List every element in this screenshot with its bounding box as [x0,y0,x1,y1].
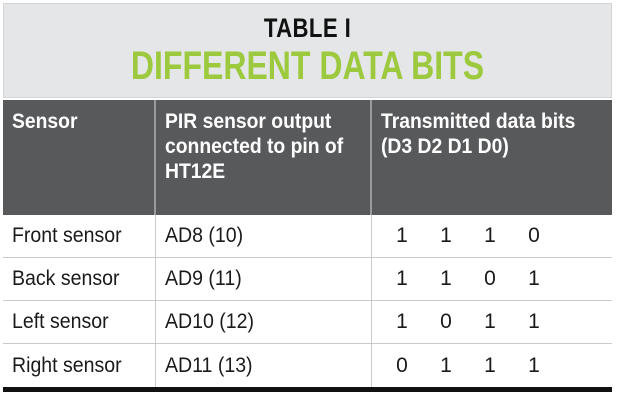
table-row: Front sensor AD8 (10) 1 1 1 0 [3,215,612,258]
cell-sensor: Front sensor [3,215,156,257]
table-row: Left sensor AD10 (12) 1 0 1 1 [3,301,612,344]
cell-bits: 1 1 1 0 [372,215,612,257]
column-header-bits-label: Transmitted data bits [381,109,575,134]
cell-sensor-text: Left sensor [12,310,109,334]
cell-bit-d2: 0 [424,310,468,334]
cell-pin: AD8 (10) [156,215,372,257]
cell-pin-text: AD11 (13) [165,354,253,378]
cell-bit-d2: 1 [424,267,468,291]
cell-bit-d3: 0 [380,354,424,378]
cell-sensor-text: Right sensor [12,354,122,378]
cell-sensor-text: Front sensor [12,224,122,248]
cell-sensor: Right sensor [3,344,156,387]
cell-bit-d2: 1 [424,354,468,378]
cell-bits: 1 1 0 1 [372,258,612,300]
cell-bit-d0: 1 [512,310,556,334]
cell-pin: AD11 (13) [156,344,372,387]
table-header-row: Sensor PIR sensor output connected to pi… [3,100,612,215]
cell-sensor: Left sensor [3,301,156,343]
table-figure: TABLE I DIFFERENT DATA BITS Sensor PIR s… [0,0,618,420]
cell-bit-d1: 1 [468,310,512,334]
table-row: Back sensor AD9 (11) 1 1 0 1 [3,258,612,301]
cell-bit-d1: 1 [468,224,512,248]
cell-bit-d3: 1 [380,310,424,334]
cell-pin: AD9 (11) [156,258,372,300]
column-header-bits: Transmitted data bits (D3 D2 D1 D0) [372,100,612,215]
cell-bit-d0: 1 [512,267,556,291]
cell-pin: AD10 (12) [156,301,372,343]
cell-bit-d3: 1 [380,267,424,291]
column-header-sensor: Sensor [3,100,156,215]
table-row: Right sensor AD11 (13) 0 1 1 1 [3,344,612,387]
cell-sensor: Back sensor [3,258,156,300]
cell-pin-text: AD9 (11) [165,267,242,291]
cell-bit-d0: 0 [512,224,556,248]
cell-bit-d3: 1 [380,224,424,248]
cell-bit-d2: 1 [424,224,468,248]
table-title-block: TABLE I DIFFERENT DATA BITS [3,3,612,98]
column-header-pin: PIR sensor output connected to pin of HT… [156,100,372,215]
cell-bit-d1: 1 [468,354,512,378]
column-header-bits-sublabel: (D3 D2 D1 D0) [381,134,575,159]
table-number-label: TABLE I [59,4,557,43]
cell-pin-text: AD10 (12) [165,310,254,334]
cell-bit-d1: 0 [468,267,512,291]
column-header-sensor-label: Sensor [12,109,78,134]
cell-pin-text: AD8 (10) [165,224,243,248]
cell-sensor-text: Back sensor [12,267,119,291]
cell-bits: 1 0 1 1 [372,301,612,343]
column-header-pin-label: PIR sensor output connected to pin of HT… [165,109,345,184]
table-title-heading: DIFFERENT DATA BITS [65,43,551,88]
cell-bit-d0: 1 [512,354,556,378]
cell-bits: 0 1 1 1 [372,344,612,387]
data-table: Sensor PIR sensor output connected to pi… [3,100,612,392]
